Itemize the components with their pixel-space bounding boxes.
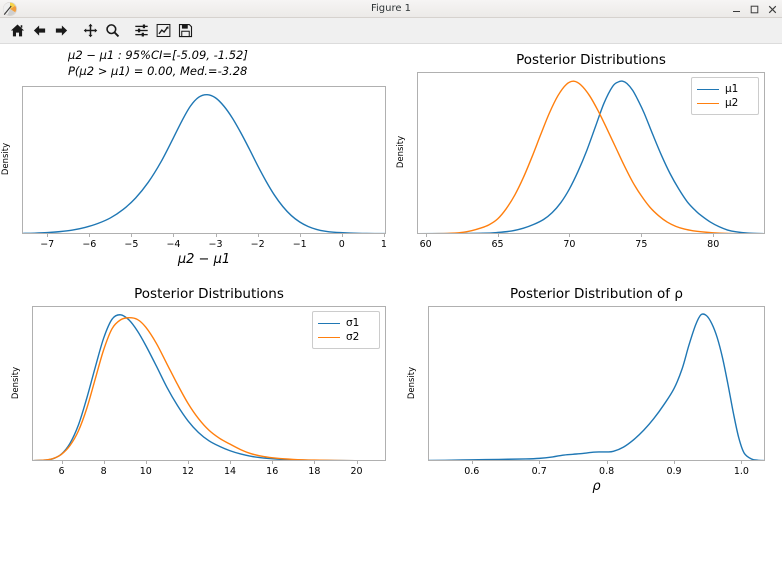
figure-window: Figure 1 — [0, 0, 782, 566]
forward-arrow-icon[interactable] — [50, 20, 72, 42]
zoom-magnifier-icon[interactable] — [101, 20, 123, 42]
save-floppy-icon[interactable] — [174, 20, 196, 42]
title-bar: Figure 1 — [0, 0, 782, 18]
maximize-icon[interactable] — [749, 4, 760, 15]
minimize-icon[interactable] — [731, 4, 742, 15]
curve-ρ — [428, 314, 765, 461]
curves-posterior-rho — [0, 44, 782, 565]
window-title: Figure 1 — [0, 0, 782, 18]
toolbar-separator-1 — [72, 20, 79, 42]
pan-move-icon[interactable] — [79, 20, 101, 42]
configure-subplots-icon[interactable] — [130, 20, 152, 42]
back-arrow-icon[interactable] — [28, 20, 50, 42]
toolbar-separator-2 — [123, 20, 130, 42]
navigation-toolbar — [0, 18, 782, 44]
edit-axis-curve-icon[interactable] — [152, 20, 174, 42]
figure-canvas[interactable]: μ2 − μ1 : 95%CI=[-5.09, -1.52]P(μ2 > μ1)… — [0, 44, 782, 565]
close-icon[interactable] — [767, 4, 778, 15]
matplotlib-icon — [2, 1, 18, 17]
window-controls — [731, 0, 778, 18]
home-icon[interactable] — [6, 20, 28, 42]
